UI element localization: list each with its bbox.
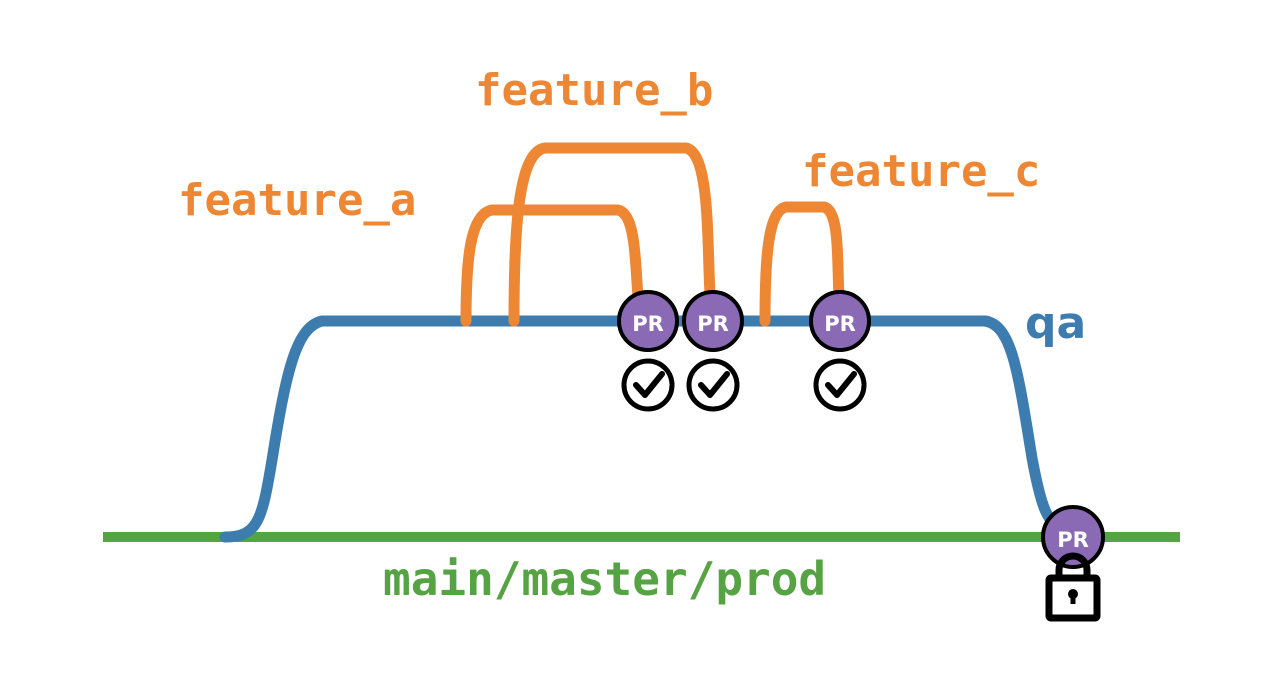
feature-a-branch-line (466, 210, 638, 321)
feature-c-label: feature_c (802, 146, 1040, 197)
pr-node-label: PR (697, 312, 729, 336)
check-circle-outline (624, 361, 672, 409)
check-circle-icon (624, 361, 672, 409)
check-circle-outline (816, 361, 864, 409)
diagram-canvas: feature_a feature_b feature_c qa main/ma… (0, 0, 1288, 678)
qa-branch-line (225, 321, 1062, 537)
feature-b-label: feature_b (475, 65, 713, 116)
pr-node-label: PR (632, 312, 664, 336)
feature-a-label: feature_a (178, 175, 416, 226)
git-branch-diagram: feature_a feature_b feature_c qa main/ma… (0, 0, 1288, 678)
pr-node-feature-c[interactable]: PR (811, 292, 869, 350)
feature-b-branch-line (514, 148, 710, 321)
main-branch-label: main/master/prod (383, 552, 826, 606)
lock-keyhole-stem-icon (1071, 594, 1076, 604)
check-circle-icon (816, 361, 864, 409)
qa-label: qa (1025, 298, 1086, 349)
pr-node-label: PR (1057, 528, 1089, 552)
check-circle-icon (689, 361, 737, 409)
check-circle-outline (689, 361, 737, 409)
pr-node-feature-a[interactable]: PR (619, 292, 677, 350)
pr-node-feature-b[interactable]: PR (684, 292, 742, 350)
pr-node-label: PR (824, 312, 856, 336)
